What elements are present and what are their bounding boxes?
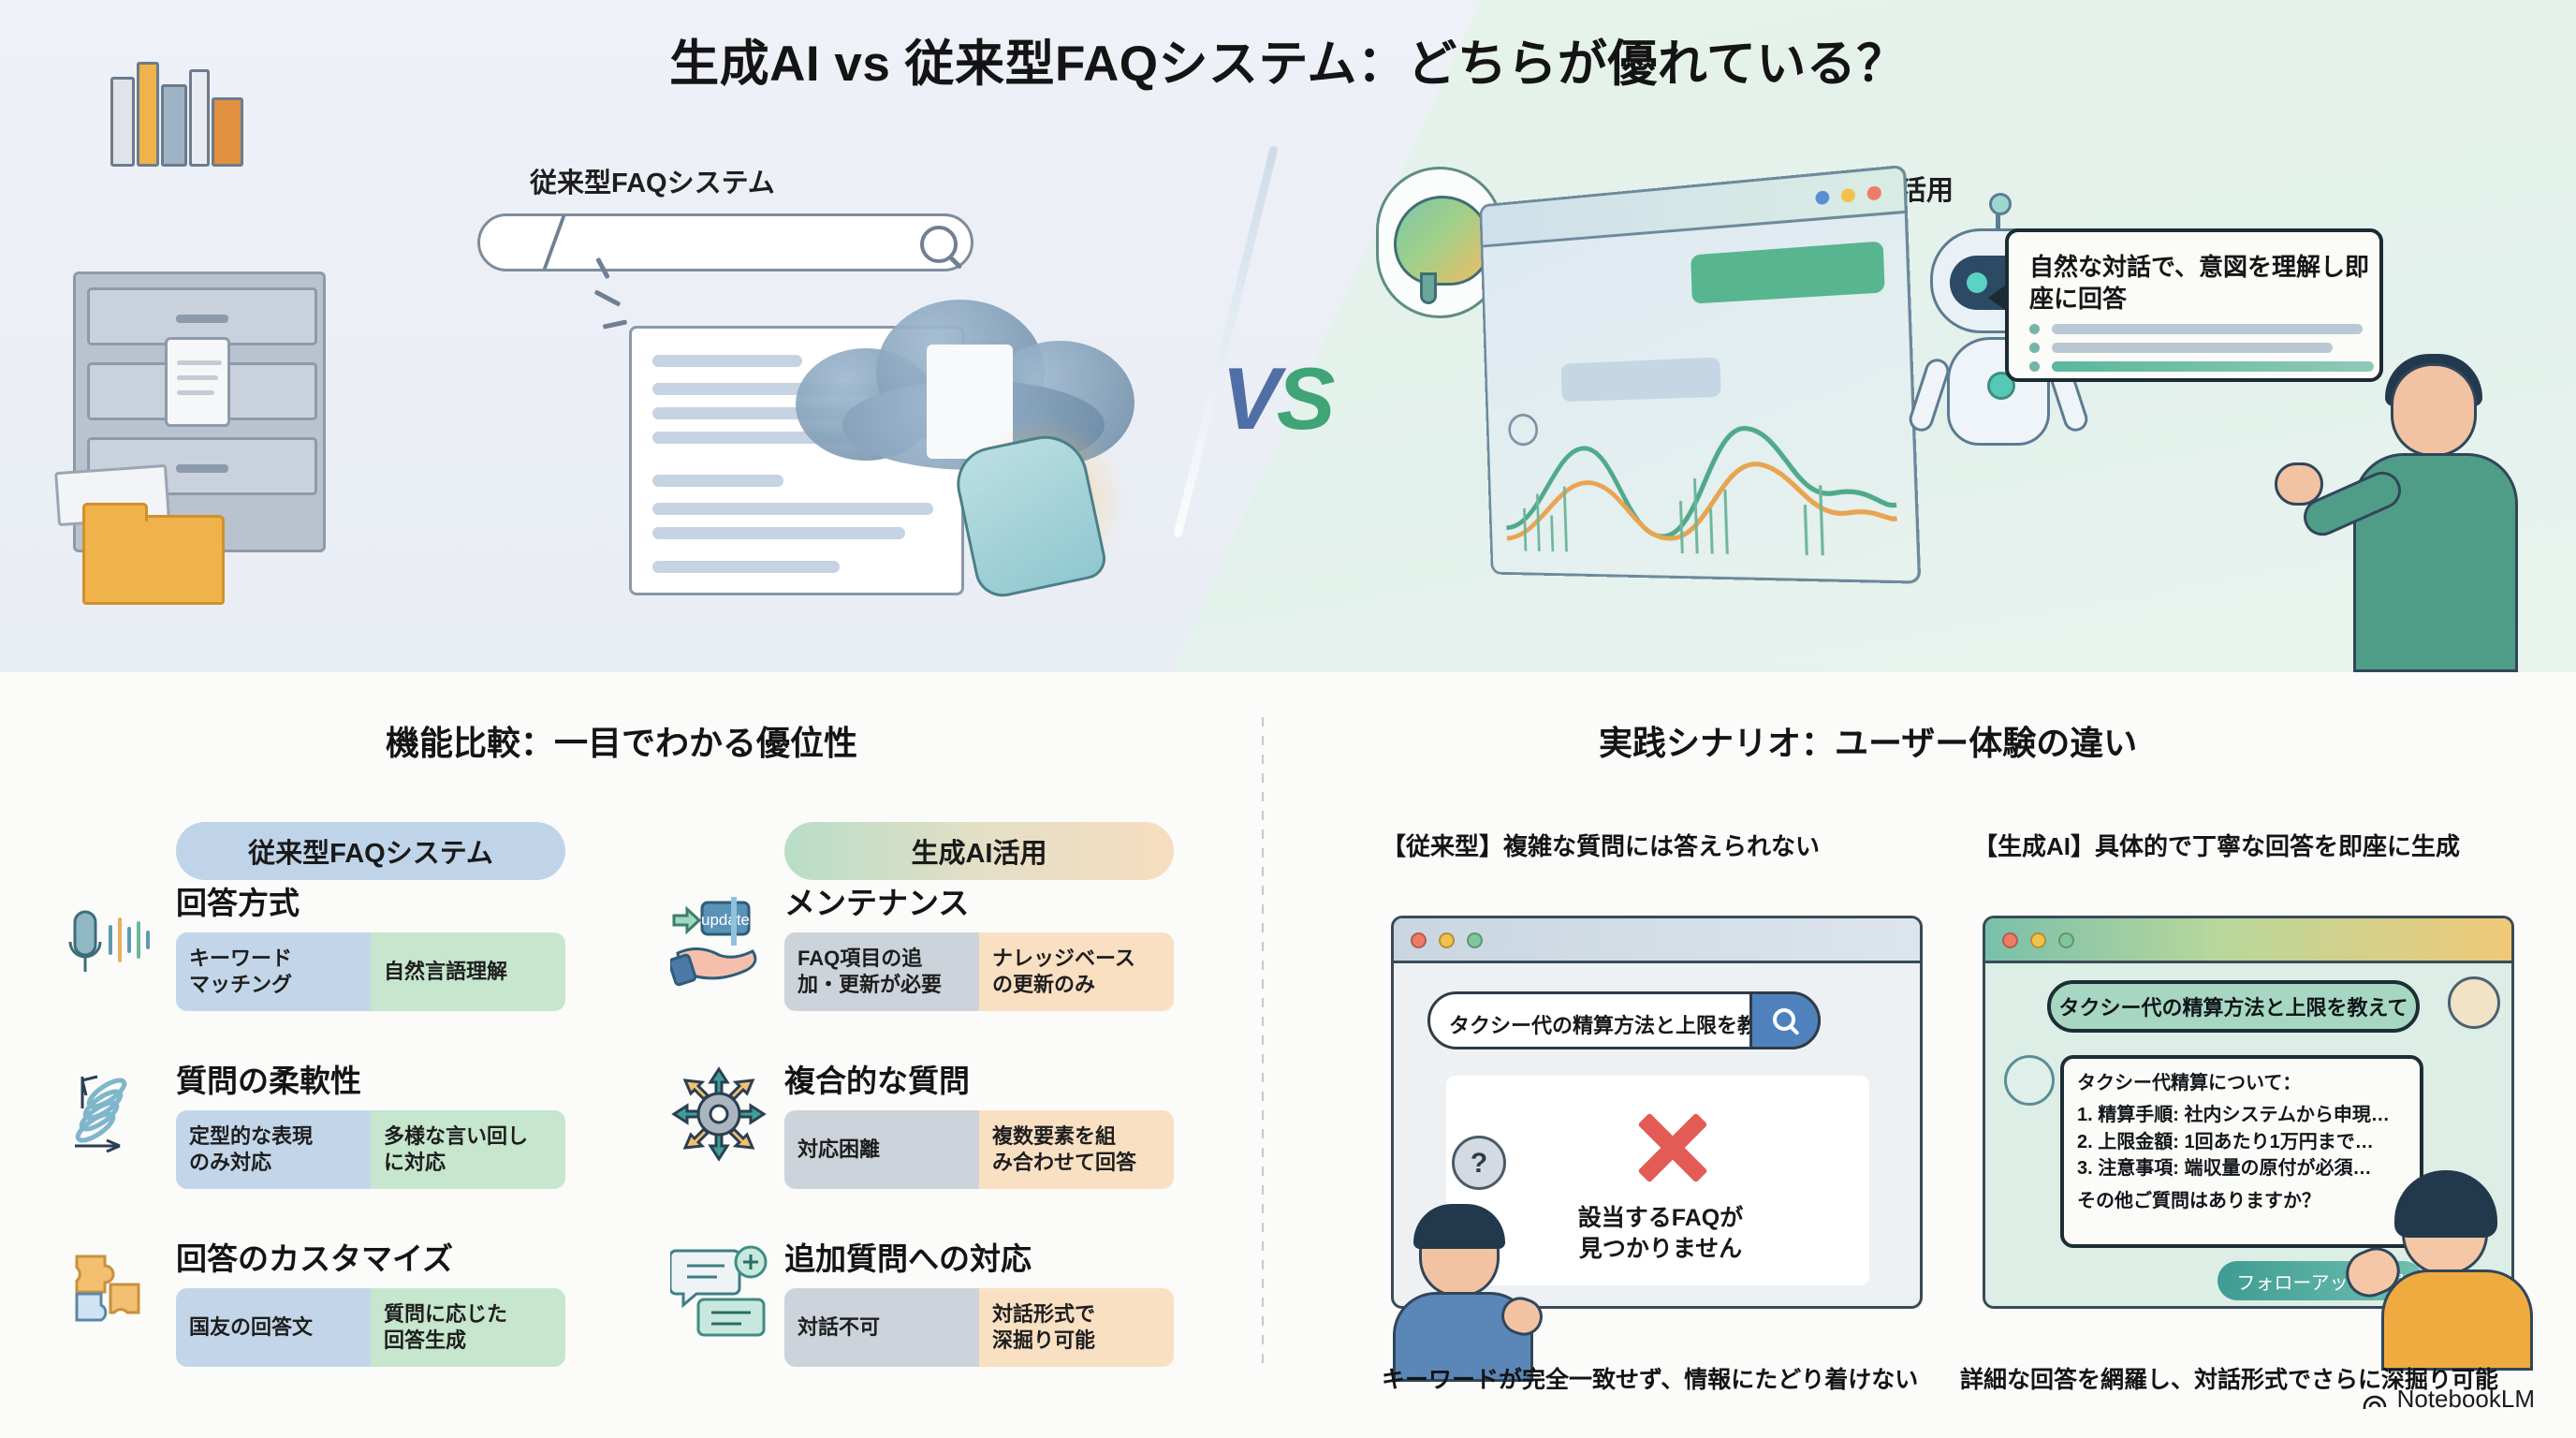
no-result-message: 設当するFAQが 見つかりません bbox=[1506, 1203, 1815, 1264]
hero-section: 生成AI vs 従来型FAQシステム：どちらが優れている？ 従来型FAQシステム… bbox=[0, 0, 2576, 672]
satisfied-person-illustration bbox=[2378, 1178, 2537, 1365]
window-close-dot[interactable] bbox=[1411, 932, 1427, 948]
comparison-header-genai: 生成AI活用 bbox=[784, 822, 1174, 880]
feature-legacy-value: 対応困離 bbox=[784, 1110, 979, 1189]
window-maximize-dot bbox=[1815, 190, 1829, 205]
window-maximize-dot[interactable] bbox=[2058, 932, 2074, 948]
feature-genai-value: 対話形式で 深掘り可能 bbox=[979, 1288, 1174, 1367]
update-hand-icon: update bbox=[670, 895, 768, 992]
no-result-line2: 見つかりません bbox=[1506, 1234, 1815, 1265]
comparison-header-legacy: 従来型FAQシステム bbox=[176, 822, 565, 880]
ai-response-item: 2. 上限金額: 1回あたり1万円まで… bbox=[2077, 1129, 2407, 1155]
infographic-page: 生成AI vs 従来型FAQシステム：どちらが優れている？ 従来型FAQシステム… bbox=[0, 0, 2576, 1438]
spring-flex-icon bbox=[62, 1065, 159, 1163]
feature-row-maintenance: メンテナンス FAQ項目の追 加・更新が必要 ナレッジベース の更新のみ bbox=[784, 878, 1174, 1011]
window-minimize-dot bbox=[1841, 188, 1855, 203]
feature-legacy-value: キーワード マッチング bbox=[176, 932, 371, 1011]
svg-text:update: update bbox=[701, 911, 750, 929]
comparison-section-title: 機能比較：一目でわかる優位性 bbox=[386, 716, 857, 765]
person-hand bbox=[2275, 462, 2323, 506]
search-button[interactable] bbox=[1749, 991, 1821, 1049]
feature-genai-value: 複数要素を組 み合わせて回答 bbox=[979, 1110, 1174, 1189]
feature-genai-value: 多様な言い回し に対応 bbox=[371, 1110, 565, 1189]
feature-title: 質問の柔軟性 bbox=[176, 1056, 565, 1101]
clipboard-illustration bbox=[165, 337, 230, 427]
feature-title: メンテナンス bbox=[784, 878, 1174, 923]
hero-bubble-text: 自然な対話で、意図を理解し即座に回答 bbox=[2029, 251, 2379, 315]
robot-eye-left bbox=[1967, 272, 1987, 293]
speech-bubble-tail bbox=[1988, 283, 2009, 313]
brain-stem bbox=[1420, 272, 1437, 304]
ai-avatar-icon bbox=[2004, 1055, 2055, 1106]
user-message-bubble: タクシー代の精算方法と上限を教えて bbox=[2047, 980, 2420, 1033]
puzzle-piece-icon bbox=[62, 1241, 159, 1339]
feature-row-complex-questions: 複合的な質問 対応困離 複数要素を組 み合わせて回答 bbox=[784, 1056, 1174, 1189]
feature-row-follow-up: 追加質問への対応 対話不可 対話形式で 深掘り可能 bbox=[784, 1234, 1174, 1367]
window-maximize-dot[interactable] bbox=[1467, 932, 1483, 948]
confused-person-illustration bbox=[1391, 1217, 1541, 1367]
genai-scenario-caption: 【生成AI】具体的で丁寧な回答を即座に生成 bbox=[1973, 828, 2460, 862]
window-close-dot[interactable] bbox=[2002, 932, 2018, 948]
page-title: 生成AI vs 従来型FAQシステム：どちらが優れている？ bbox=[0, 24, 2576, 95]
window-close-dot bbox=[1866, 185, 1881, 200]
notebooklm-watermark: NotebookLM bbox=[2362, 1385, 2535, 1414]
feature-genai-value: 質問に応じた 回答生成 bbox=[371, 1288, 565, 1367]
vs-badge: VS bbox=[1222, 348, 1331, 449]
feature-legacy-value: 国友の回答文 bbox=[176, 1288, 371, 1367]
feature-title: 回答のカスタマイズ bbox=[176, 1234, 565, 1279]
legacy-scenario-footer: キーワードが完全一致せず、情報にたどり着けない bbox=[1382, 1361, 1918, 1395]
robot-arm-left bbox=[1906, 356, 1952, 434]
multi-arrow-gear-icon bbox=[670, 1065, 768, 1163]
window-minimize-dot[interactable] bbox=[2030, 932, 2046, 948]
hero-label-legacy: 従来型FAQシステム bbox=[530, 161, 775, 200]
feature-row-flexibility: 質問の柔軟性 定型的な表現 のみ対応 多様な言い回し に対応 bbox=[176, 1056, 565, 1189]
notebooklm-label: NotebookLM bbox=[2397, 1385, 2535, 1414]
ai-chat-bubble bbox=[1690, 241, 1885, 303]
ai-response-bubble: タクシー代精算について： 1. 精算手順: 社内システムから申現… 2. 上限金… bbox=[2060, 1055, 2423, 1248]
legacy-browser-titlebar bbox=[1394, 918, 1920, 963]
legacy-search-value: タクシー代の精算方法と上限を教えて bbox=[1449, 1009, 1798, 1039]
person-head bbox=[2391, 363, 2477, 457]
feature-row-answer-method: 回答方式 キーワード マッチング 自然言語理解 bbox=[176, 878, 565, 1011]
person-illustration bbox=[2336, 363, 2524, 672]
error-x-icon bbox=[1624, 1098, 1718, 1192]
feature-row-customization: 回答のカスタマイズ 国友の回答文 質問に応じた 回答生成 bbox=[176, 1234, 565, 1367]
user-avatar-icon bbox=[2448, 976, 2500, 1029]
feature-legacy-value: 対話不可 bbox=[784, 1288, 979, 1367]
search-icon bbox=[920, 226, 958, 263]
ai-response-closing: その他ご質問はありますか？ bbox=[2077, 1188, 2407, 1214]
vs-letter-v: V bbox=[1222, 349, 1277, 448]
notebooklm-logo-icon bbox=[2362, 1387, 2388, 1413]
feature-title: 回答方式 bbox=[176, 878, 565, 923]
search-icon bbox=[1773, 1008, 1795, 1031]
feature-genai-value: 自然言語理解 bbox=[371, 932, 565, 1011]
legacy-search-input[interactable]: タクシー代の精算方法と上限を教えて bbox=[1427, 991, 1821, 1049]
legacy-scenario-caption: 【従来型】複雑な質問には答えられない bbox=[1382, 828, 1820, 862]
feature-title: 追加質問への対応 bbox=[784, 1234, 1174, 1279]
window-minimize-dot[interactable] bbox=[1439, 932, 1455, 948]
vs-letter-s: S bbox=[1277, 349, 1332, 448]
feature-legacy-value: FAQ項目の追 加・更新が必要 bbox=[784, 932, 979, 1011]
folder-illustration bbox=[82, 515, 225, 605]
question-bubble-icon: ? bbox=[1452, 1136, 1506, 1190]
microphone-waveform-icon bbox=[62, 895, 159, 992]
genai-browser-titlebar bbox=[1985, 918, 2511, 963]
ai-response-item: 3. 注意事項: 端収量の原付が必須… bbox=[2077, 1155, 2407, 1181]
waveform-chart bbox=[1502, 381, 1898, 560]
feature-genai-value: ナレッジベース の更新のみ bbox=[979, 932, 1174, 1011]
ai-browser-illustration bbox=[1479, 165, 1921, 584]
ai-response-item: 1. 精算手順: 社内システムから申現… bbox=[2077, 1102, 2407, 1128]
feature-title: 複合的な質問 bbox=[784, 1056, 1174, 1101]
section-divider bbox=[1262, 717, 1264, 1372]
ai-response-heading: タクシー代精算について： bbox=[2077, 1070, 2407, 1096]
hero-speech-bubble: 自然な対話で、意図を理解し即座に回答 bbox=[2005, 228, 2383, 382]
brain-icon bbox=[1394, 196, 1491, 286]
feature-legacy-value: 定型的な表現 のみ対応 bbox=[176, 1110, 371, 1189]
no-result-line1: 設当するFAQが bbox=[1506, 1203, 1815, 1234]
chat-plus-icon bbox=[670, 1241, 768, 1339]
scenario-section-title: 実践シナリオ：ユーザー体験の違い bbox=[1599, 716, 2137, 765]
